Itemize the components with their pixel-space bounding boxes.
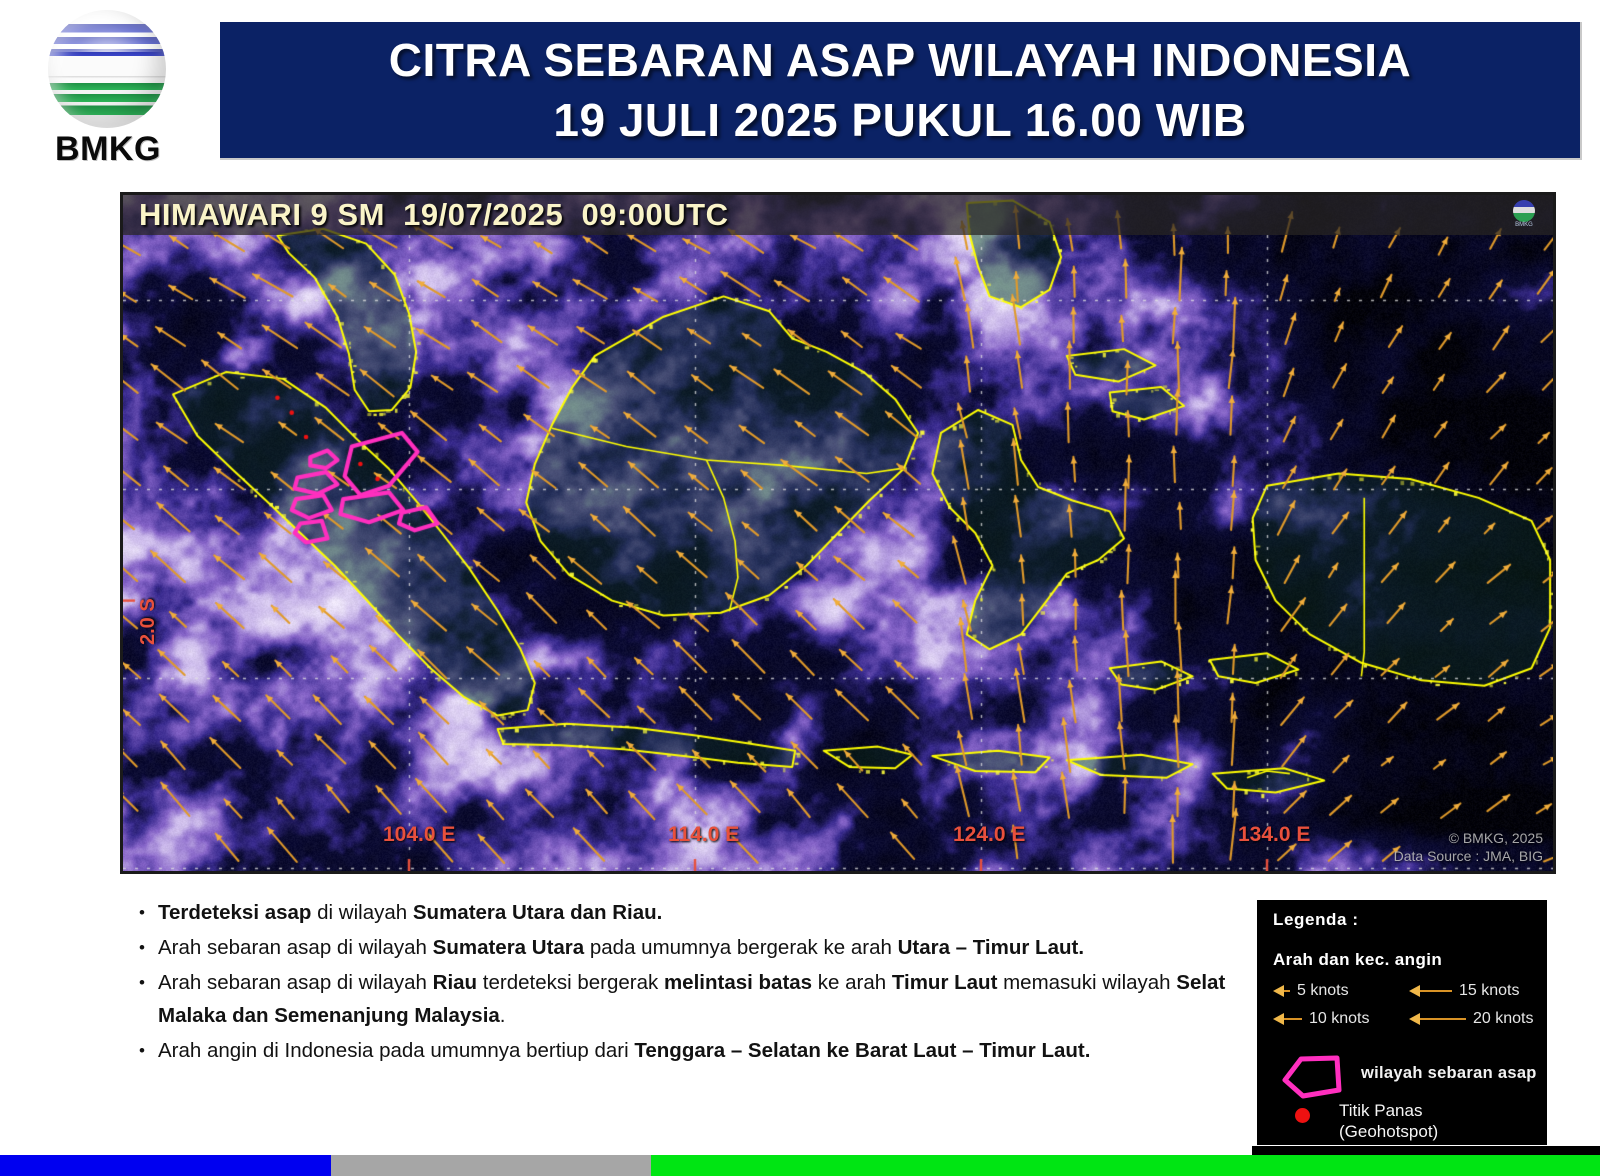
- legend-wind-label: 10 knots: [1309, 1010, 1369, 1028]
- satellite-label-text: HIMAWARI 9 SM 19/07/2025 09:00UTC: [139, 197, 729, 233]
- legend-polygon-label: wilayah sebaran asap: [1361, 1064, 1537, 1083]
- legend-wind-label: 15 knots: [1459, 982, 1519, 1000]
- bullet-text: Terdeteksi asap di wilayah Sumatera Utar…: [158, 896, 1236, 929]
- bullet-marker-icon: •: [126, 1034, 158, 1067]
- bmkg-globe-logo-icon: [48, 10, 166, 128]
- summary-bullet-list: •Terdeteksi asap di wilayah Sumatera Uta…: [126, 896, 1236, 1069]
- legend-title: Legenda :: [1273, 910, 1359, 930]
- map-bmkg-logo-caption: BMKG: [1509, 222, 1539, 229]
- legend-hotspot-label: Titik Panas (Geohotspot): [1339, 1100, 1438, 1142]
- page-title-line-2: 19 JULI 2025 PUKUL 16.00 WIB: [553, 90, 1246, 150]
- map-copyright: © BMKG, 2025 Data Source : JMA, BIG: [1394, 829, 1543, 865]
- lon-label-114: 114.0 E: [668, 823, 739, 847]
- legend-wind-5-knots: 5 knots: [1273, 982, 1349, 1000]
- satellite-image-canvas: [123, 195, 1553, 871]
- legend-panel: Legenda : Arah dan kec. angin 5 knots 15…: [1257, 900, 1547, 1145]
- bullet-item: •Terdeteksi asap di wilayah Sumatera Uta…: [126, 896, 1236, 929]
- bullet-marker-icon: •: [126, 896, 158, 929]
- footer-bar-green: [651, 1155, 1600, 1176]
- legend-hotspot-line-1: Titik Panas: [1339, 1100, 1438, 1121]
- bullet-marker-icon: •: [126, 931, 158, 964]
- legend-wind-10-knots: 10 knots: [1273, 1010, 1369, 1028]
- legend-wind-label: 20 knots: [1473, 1010, 1533, 1028]
- page-header: BMKG CITRA SEBARAN ASAP WILAYAH INDONESI…: [0, 0, 1600, 180]
- legend-wind-title: Arah dan kec. angin: [1273, 950, 1442, 970]
- legend-wind-20-knots: 20 knots: [1409, 1010, 1533, 1028]
- bullet-text: Arah sebaran asap di wilayah Sumatera Ut…: [158, 931, 1236, 964]
- bullet-marker-icon: •: [126, 966, 158, 999]
- footer-bar-gray: [331, 1155, 651, 1176]
- wind-arrow-icon: [1409, 984, 1452, 998]
- page-title-line-1: CITRA SEBARAN ASAP WILAYAH INDONESIA: [389, 30, 1411, 90]
- wind-arrow-icon: [1273, 1012, 1302, 1026]
- bullet-item: •Arah sebaran asap di wilayah Riau terde…: [126, 966, 1236, 1032]
- footer-bar-blue: [0, 1155, 331, 1176]
- lon-label-134: 134.0 E: [1238, 823, 1310, 847]
- footer-black-strip: [1252, 1146, 1600, 1155]
- legend-wind-label: 5 knots: [1297, 982, 1349, 1000]
- footer-color-bars: [0, 1155, 1600, 1176]
- bullet-text: Arah angin di Indonesia pada umumnya ber…: [158, 1034, 1236, 1067]
- satellite-label-bar: HIMAWARI 9 SM 19/07/2025 09:00UTC: [123, 195, 1553, 235]
- map-bmkg-logo-icon: BMKG: [1509, 199, 1539, 231]
- smoke-polygon-icon: [1279, 1052, 1347, 1100]
- hotspot-dot-icon: [1295, 1108, 1310, 1123]
- title-banner: CITRA SEBARAN ASAP WILAYAH INDONESIA 19 …: [220, 22, 1582, 160]
- bmkg-logo-text: BMKG: [18, 130, 198, 169]
- bmkg-logo-block: BMKG: [18, 8, 198, 178]
- bullet-item: •Arah sebaran asap di wilayah Sumatera U…: [126, 931, 1236, 964]
- bullet-item: •Arah angin di Indonesia pada umumnya be…: [126, 1034, 1236, 1067]
- bullet-text: Arah sebaran asap di wilayah Riau terdet…: [158, 966, 1236, 1032]
- legend-wind-15-knots: 15 knots: [1409, 982, 1519, 1000]
- legend-hotspot-line-2: (Geohotspot): [1339, 1121, 1438, 1142]
- wind-arrow-icon: [1273, 984, 1290, 998]
- satellite-map[interactable]: HIMAWARI 9 SM 19/07/2025 09:00UTC BMKG 1…: [120, 192, 1556, 874]
- lat-label-2s: 2.0 S: [137, 598, 160, 645]
- copyright-line-1: © BMKG, 2025: [1394, 829, 1543, 847]
- lon-label-104: 104.0 E: [383, 823, 455, 847]
- lon-label-124: 124.0 E: [953, 823, 1025, 847]
- copyright-line-2: Data Source : JMA, BIG: [1394, 847, 1543, 865]
- wind-arrow-icon: [1409, 1012, 1466, 1026]
